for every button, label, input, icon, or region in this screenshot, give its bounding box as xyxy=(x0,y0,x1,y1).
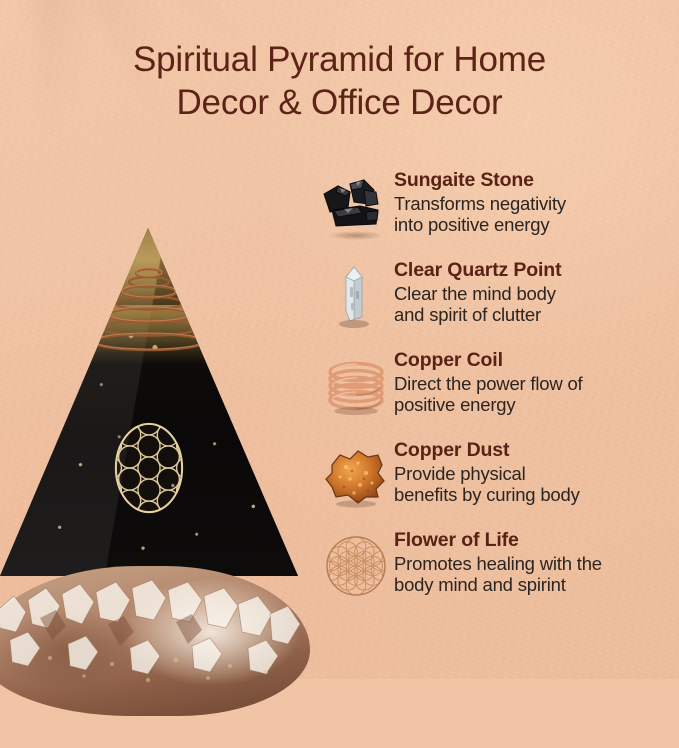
feature-title: Clear Quartz Point xyxy=(394,260,561,282)
feature-desc-line-2: benefits by curing body xyxy=(394,484,580,506)
feature-text: Flower of Life Promotes healing with the… xyxy=(394,528,602,596)
feature-desc-line-2: positive energy xyxy=(394,394,583,416)
feature-title: Flower of Life xyxy=(394,530,602,552)
feature-item-copper-coil: Copper Coil Direct the power flow of pos… xyxy=(318,348,670,438)
clear-quartz-point-icon xyxy=(318,258,394,334)
feature-desc-line-1: Transforms negativity xyxy=(394,193,566,215)
product-image xyxy=(0,196,328,679)
feature-description: Transforms negativity into positive ener… xyxy=(394,193,566,236)
geode-crystals xyxy=(0,548,320,738)
feature-desc-line-1: Direct the power flow of xyxy=(394,373,583,395)
feature-description: Direct the power flow of positive energy xyxy=(394,373,583,416)
feature-description: Promotes healing with the body mind and … xyxy=(394,553,602,596)
feature-desc-line-1: Provide physical xyxy=(394,463,580,485)
crystal-geode-base-icon xyxy=(0,548,320,748)
feature-item-shungite: Sungaite Stone Transforms negativity int… xyxy=(318,168,670,258)
page-title: Spiritual Pyramid for Home Decor & Offic… xyxy=(0,38,679,124)
feature-desc-line-1: Clear the mind body xyxy=(394,283,561,305)
feature-desc-line-1: Promotes healing with the xyxy=(394,553,602,575)
flower-of-life-icon xyxy=(318,528,394,604)
feature-item-flower-of-life: Flower of Life Promotes healing with the… xyxy=(318,528,670,618)
feature-item-copper-dust: Copper Dust Provide physical benefits by… xyxy=(318,438,670,528)
feature-desc-line-2: into positive energy xyxy=(394,214,566,236)
feature-item-clear-quartz: Clear Quartz Point Clear the mind body a… xyxy=(318,258,670,348)
feature-desc-line-2: and spirit of clutter xyxy=(394,304,561,326)
feature-text: Clear Quartz Point Clear the mind body a… xyxy=(394,258,561,326)
feature-text: Copper Coil Direct the power flow of pos… xyxy=(394,348,583,416)
feature-title: Sungaite Stone xyxy=(394,170,566,192)
feature-text: Copper Dust Provide physical benefits by… xyxy=(394,438,580,506)
shungite-stone-icon xyxy=(318,168,394,244)
feature-text: Sungaite Stone Transforms negativity int… xyxy=(394,168,566,236)
feature-title: Copper Dust xyxy=(394,440,580,462)
feature-description: Provide physical benefits by curing body xyxy=(394,463,580,506)
copper-dust-icon xyxy=(318,438,394,514)
copper-coil-icon xyxy=(318,348,394,424)
feature-desc-line-2: body mind and spirint xyxy=(394,574,602,596)
feature-list: Sungaite Stone Transforms negativity int… xyxy=(318,168,670,618)
page-title-line-2: Decor & Office Decor xyxy=(0,81,679,124)
icon-shadow xyxy=(329,231,383,240)
pyramid-flower-of-life-icon xyxy=(103,412,195,524)
page-title-line-1: Spiritual Pyramid for Home xyxy=(133,40,546,79)
feature-description: Clear the mind body and spirit of clutte… xyxy=(394,283,561,326)
feature-title: Copper Coil xyxy=(394,350,583,372)
